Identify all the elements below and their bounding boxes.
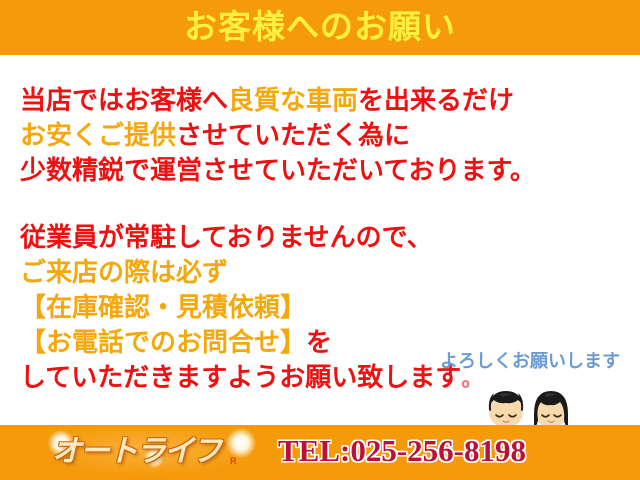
notice-segment: を出来るだけ — [358, 85, 514, 115]
body-area: 当店ではお客様へ良質な車両を出来るだけ お安くご提供させていただく為に 少数精鋭… — [0, 55, 640, 425]
customer-notice-banner: お客様へのお願い 当店ではお客様へ良質な車両を出来るだけ お安くご提供させていた… — [0, 0, 640, 480]
notice-line: お安くご提供させていただく為に — [20, 118, 536, 153]
page-title: お客様へのお願い — [0, 5, 640, 49]
notice-segment: 従業員が常駐しておりませんので、 — [20, 222, 433, 252]
notice-paragraph-2: 従業員が常駐しておりませんので、 ご来店の際は必ず 【在庫確認・見積依頼】 【お… — [20, 220, 483, 396]
notice-segment: させていただく為に — [176, 120, 410, 150]
notice-segment-highlight: ご来店の際は必ず — [20, 257, 228, 287]
notice-segment: を — [306, 327, 332, 357]
notice-line: 当店ではお客様へ良質な車両を出来るだけ — [20, 83, 536, 118]
notice-segment-highlight: お安くご提供 — [20, 120, 176, 150]
notice-line-phone-inquiry: 【お電話でのお問合せ】を — [20, 325, 483, 360]
phone-number[interactable]: TEL:025-256-8198 — [278, 430, 526, 472]
notice-line: ご来店の際は必ず — [20, 255, 483, 290]
notice-segment: していただきますようお願い致します — [20, 362, 461, 392]
notice-line: 少数精鋭で運営させていただいております。 — [20, 153, 536, 188]
registered-trademark-mark: R — [230, 456, 237, 466]
notice-line-stock-request: 【在庫確認・見積依頼】 — [20, 290, 483, 325]
notice-segment: 少数精鋭で運営させていただいております。 — [20, 155, 536, 185]
notice-segment-highlight: 【在庫確認・見積依頼】 — [20, 292, 306, 322]
greeting-text: よろしくお願いします — [440, 349, 620, 373]
notice-paragraph-1: 当店ではお客様へ良質な車両を出来るだけ お安くご提供させていただく為に 少数精鋭… — [20, 83, 536, 188]
notice-segment-highlight: 良質な車両 — [228, 85, 358, 115]
dealer-logo-text: オートライフ — [52, 433, 242, 471]
notice-line: していただきますようお願い致します。 — [20, 360, 483, 396]
dealer-logo[interactable]: オートライフ R — [40, 428, 260, 476]
notice-segment: 当店ではお客様へ — [20, 85, 228, 115]
notice-segment-highlight: 【お電話でのお問合せ】 — [20, 327, 306, 357]
notice-line: 従業員が常駐しておりませんので、 — [20, 220, 483, 255]
